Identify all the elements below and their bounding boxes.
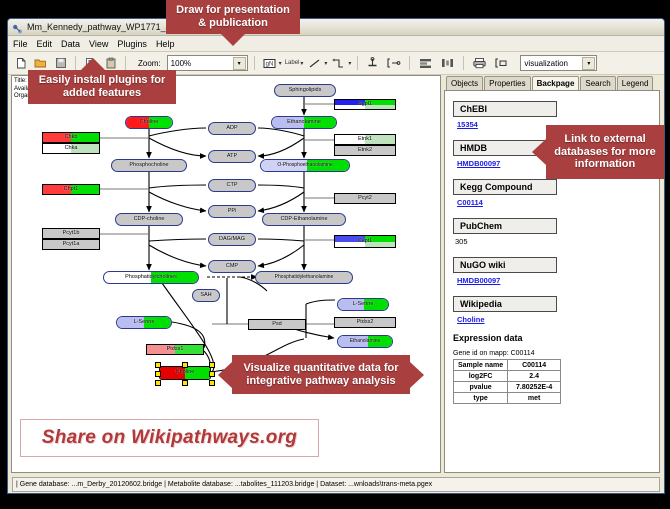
db-link-kegg-compound[interactable]: C00114: [457, 198, 659, 207]
open-folder-icon[interactable]: [32, 55, 49, 72]
anchor-icon[interactable]: [364, 55, 381, 72]
node-l-serine-left[interactable]: L-Serine: [116, 316, 172, 329]
menu-data[interactable]: Data: [61, 39, 80, 49]
cell-value: C00114: [508, 360, 561, 371]
node-label: Cept1: [358, 239, 373, 245]
node-label: Ethanolamine: [287, 120, 321, 126]
node-phosphatidylethanolamine[interactable]: Phosphatidylethanolamine: [255, 271, 353, 284]
node-label: ADP: [226, 126, 237, 132]
node-label: ATP: [227, 154, 237, 160]
callout-arrow-left: [532, 139, 546, 165]
db-header-nugo-wiki: NuGO wiki: [453, 257, 557, 273]
callout-text: Link to external databases for more info…: [552, 133, 658, 172]
callout-arrow-right: [410, 362, 424, 388]
chevron-down-icon[interactable]: ▾: [279, 60, 282, 67]
node-sah[interactable]: SAH: [192, 289, 220, 302]
tab-search[interactable]: Search: [580, 76, 615, 90]
callout-install-plugins: Easily install plugins for added feature…: [28, 70, 176, 104]
gene-cept1[interactable]: Cept1: [334, 235, 396, 248]
menu-file[interactable]: File: [13, 39, 28, 49]
db-link-nugo-wiki[interactable]: HMDB00097: [457, 276, 659, 285]
callout-text: Draw for presentation & publication: [172, 4, 294, 30]
node-label: Ptdss2: [357, 320, 374, 326]
selection-handle[interactable]: [182, 362, 188, 368]
tab-objects[interactable]: Objects: [446, 76, 483, 90]
node-label: O-Phosphoethanolamine: [277, 163, 332, 168]
node-label: Etnk1: [358, 137, 372, 143]
node-label: CDP-Ethanolamine: [280, 217, 327, 223]
datanode-dropdown[interactable]: gN ▾: [261, 55, 282, 72]
menu-edit[interactable]: Edit: [37, 39, 53, 49]
callout-text: Easily install plugins for added feature…: [34, 74, 170, 100]
callout-draw-publication: Draw for presentation & publication: [166, 0, 300, 34]
toolbar-separator-1: [75, 56, 76, 70]
cell-value: 2.4: [508, 371, 561, 382]
node-o-phosphoethanolamine[interactable]: O-Phosphoethanolamine: [260, 159, 350, 172]
node-label: CTP: [227, 183, 238, 189]
db-header-pubchem: PubChem: [453, 218, 557, 234]
node-label: Sphingolipids: [289, 88, 322, 94]
node-label: Phosphocholine: [129, 163, 168, 169]
callout-share-wikipathways: Share on Wikipathways.org: [20, 419, 319, 457]
node-ethanolamine-top[interactable]: Ethanolamine: [271, 116, 337, 129]
callout-arrow-left-2: [218, 362, 232, 388]
chevron-down-icon[interactable]: ▾: [300, 60, 303, 67]
group-icon[interactable]: [492, 55, 511, 72]
node-label: Chkb: [65, 135, 78, 141]
gene-etnk1[interactable]: Etnk1: [334, 134, 396, 145]
node-label: CDP-choline: [134, 217, 165, 223]
gene-pcyt1a[interactable]: Pcyt1a: [42, 239, 100, 250]
callout-external-links: Link to external databases for more info…: [546, 125, 664, 179]
node-label: Choline: [140, 120, 159, 126]
node-label: Sgpl1: [358, 102, 372, 108]
node-label: Psd: [272, 322, 281, 328]
screenshot-root: Mm_Kennedy_pathway_WP1771_45176.gpml Fil…: [0, 0, 670, 509]
node-label: Phosphatidylethanolamine: [275, 275, 334, 280]
selection-handle[interactable]: [182, 380, 188, 386]
datanode-icon[interactable]: gN: [261, 55, 278, 72]
menu-plugins[interactable]: Plugins: [117, 39, 147, 49]
toolbar-separator-6: [463, 56, 464, 70]
node-label: Ptdss1: [167, 347, 184, 353]
print-icon[interactable]: [470, 55, 489, 72]
cell-key: pvalue: [454, 382, 508, 393]
node-cdp-ethanolamine[interactable]: CDP-Ethanolamine: [262, 213, 346, 226]
node-ctp[interactable]: CTP: [208, 179, 256, 192]
gene-pcyt1b[interactable]: Pcyt1b: [42, 228, 100, 239]
pathvisio-icon: [12, 22, 23, 33]
cell-value: 7.80252E-4: [508, 382, 561, 393]
node-l-serine-right[interactable]: L-Serine: [337, 298, 389, 311]
chevron-down-icon[interactable]: ▾: [324, 60, 327, 67]
node-cmp[interactable]: CMP: [208, 260, 256, 273]
bracket-icon[interactable]: [384, 55, 403, 72]
connector-icon[interactable]: [330, 55, 347, 72]
node-label: PPi: [228, 209, 237, 215]
banner-text: Share on Wikipathways.org: [42, 427, 297, 449]
node-adp[interactable]: ADP: [208, 122, 256, 135]
node-label: L-Serine: [134, 320, 155, 326]
status-bar: | Gene database: ...m_Derby_20120602.bri…: [8, 476, 664, 493]
line-dropdown[interactable]: ▾: [306, 55, 327, 72]
menu-help[interactable]: Help: [156, 39, 175, 49]
db-header-kegg-compound: Kegg Compound: [453, 179, 557, 195]
tab-backpage[interactable]: Backpage: [532, 76, 580, 90]
table-row: log2FC 2.4: [454, 371, 561, 382]
svg-text:gN: gN: [265, 61, 273, 67]
db-header-wikipedia: Wikipedia: [453, 296, 557, 312]
node-atp[interactable]: ATP: [208, 150, 256, 163]
gene-psd[interactable]: Psd: [248, 319, 306, 330]
new-file-icon[interactable]: [12, 55, 29, 72]
table-row: Sample name C00114: [454, 360, 561, 371]
toolbar-separator-4: [357, 56, 358, 70]
selection-handle[interactable]: [209, 362, 215, 368]
node-label: Pcyt1b: [63, 231, 80, 237]
toolbar-separator-2: [125, 56, 126, 70]
status-text: | Gene database: ...m_Derby_20120602.bri…: [12, 477, 660, 492]
gene-pcyt2[interactable]: Pcyt2: [334, 193, 396, 204]
selection-handle[interactable]: [209, 380, 215, 386]
node-sphingolipids[interactable]: Sphingolipids: [274, 84, 336, 97]
node-label: Etnk2: [358, 148, 372, 154]
line-icon[interactable]: [306, 55, 323, 72]
zoom-value: 100%: [171, 59, 191, 68]
callout-arrow-down: [220, 33, 246, 46]
title-bar: Mm_Kennedy_pathway_WP1771_45176.gpml: [8, 19, 664, 36]
side-panel-tabs: Objects Properties Backpage Search Legen…: [443, 75, 661, 90]
save-icon[interactable]: [52, 55, 69, 72]
node-choline-selected[interactable]: Choline: [159, 366, 211, 380]
gene-chka[interactable]: Chka: [42, 143, 100, 154]
db-value-pubchem: 305: [455, 237, 659, 246]
node-label: Phosphatidylcholines: [125, 275, 177, 281]
callout-arrow-up: [80, 58, 106, 71]
gene-etnk2[interactable]: Etnk2: [334, 145, 396, 156]
node-label: Ethanolamine: [350, 339, 381, 344]
zoom-label: Zoom:: [138, 59, 161, 68]
selection-handle[interactable]: [209, 371, 215, 377]
tab-properties[interactable]: Properties: [484, 76, 530, 90]
gene-ptdss1[interactable]: Ptdss1: [146, 344, 204, 355]
chevron-down-icon[interactable]: ▾: [233, 57, 246, 70]
visualization-combobox[interactable]: visualization ▾: [520, 55, 597, 71]
cell-key: type: [454, 393, 508, 404]
toolbar-separator-5: [409, 56, 410, 70]
gene-id-on-mapp: Gene id on mapp: C00114: [453, 350, 659, 357]
label-tool-text: Label: [285, 60, 300, 66]
selection-handle[interactable]: [155, 380, 161, 386]
gene-chpt1[interactable]: Chpt1: [42, 184, 100, 195]
chevron-down-icon[interactable]: ▾: [348, 60, 351, 67]
distribute-icon[interactable]: [438, 55, 457, 72]
node-label: CMP: [226, 264, 238, 270]
node-ethanolamine-bottom[interactable]: Ethanolamine: [337, 335, 393, 348]
zoom-combobox[interactable]: 100% ▾: [167, 55, 248, 71]
selection-handle[interactable]: [155, 362, 161, 368]
gene-sgpl1[interactable]: Sgpl1: [334, 99, 396, 110]
db-link-wikipedia[interactable]: Choline: [457, 315, 659, 324]
node-dag-mag[interactable]: DAG/MAG: [208, 233, 256, 246]
cell-key: log2FC: [454, 371, 508, 382]
node-label: Choline: [176, 370, 195, 376]
connector-dropdown[interactable]: ▾: [330, 55, 351, 72]
node-label: DAG/MAG: [219, 237, 245, 243]
node-choline-top[interactable]: Choline: [125, 116, 173, 129]
node-cdp-choline[interactable]: CDP-choline: [115, 213, 183, 226]
chevron-down-icon[interactable]: ▾: [582, 57, 595, 70]
node-label: Chka: [65, 146, 78, 152]
gene-chkb[interactable]: Chkb: [42, 132, 100, 143]
node-label: Pcyt2: [358, 196, 372, 202]
align-icon[interactable]: [416, 55, 435, 72]
expression-data-title: Expression data: [453, 333, 659, 343]
table-row: pvalue 7.80252E-4: [454, 382, 561, 393]
table-row: type met: [454, 393, 561, 404]
node-label: L-Serine: [353, 302, 374, 308]
cell-key: Sample name: [454, 360, 508, 371]
toolbar-separator-3: [254, 56, 255, 70]
node-phosphatidylcholines[interactable]: Phosphatidylcholines: [103, 271, 199, 284]
selection-handle[interactable]: [155, 371, 161, 377]
node-label: Chpt1: [64, 187, 79, 193]
node-phosphocholine[interactable]: Phosphocholine: [111, 159, 187, 172]
callout-text: Visualize quantitative data for integrat…: [238, 362, 404, 388]
gene-ptdss2[interactable]: Ptdss2: [334, 317, 396, 328]
expression-table: Sample name C00114 log2FC 2.4 pvalue 7.8…: [453, 359, 561, 404]
node-label: Pcyt1a: [63, 242, 80, 248]
visualization-value: visualization: [524, 59, 568, 68]
callout-visualize-data: Visualize quantitative data for integrat…: [232, 355, 410, 394]
node-label: SAH: [200, 293, 211, 299]
pathway-canvas[interactable]: Title: Availa Organi: [11, 75, 441, 473]
menu-bar: File Edit Data View Plugins Help: [8, 36, 664, 52]
cell-value: met: [508, 393, 561, 404]
db-header-chebi: ChEBI: [453, 101, 557, 117]
tab-legend[interactable]: Legend: [617, 76, 654, 90]
label-dropdown[interactable]: Label▾: [285, 60, 304, 67]
node-ppi[interactable]: PPi: [208, 205, 256, 218]
menu-view[interactable]: View: [89, 39, 108, 49]
